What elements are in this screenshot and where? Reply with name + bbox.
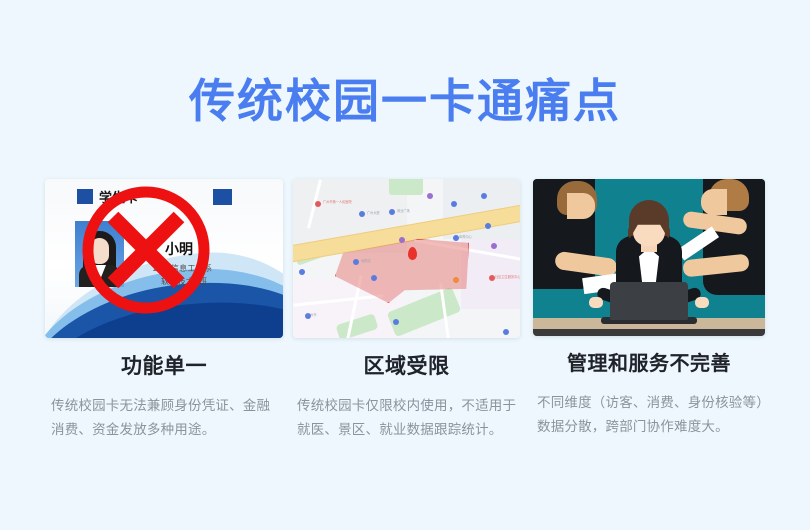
map-label: 广州大厦 (367, 210, 380, 215)
card-heading: 区域受限 (293, 356, 520, 377)
card-image-office (533, 179, 765, 336)
map-poi-marker (481, 193, 487, 199)
card-management-incomplete[interactable]: 管理和服务不完善 不同维度（访客、消费、身份核验等）数据分散，跨部门协作难度大。 (533, 179, 765, 438)
student-card-title: 学生卡 (99, 187, 138, 206)
map-graphic: 广州市第一人民医院 广州大厦 商业广场 地铁站 体育中心 社区卫生服务中心 广州… (293, 179, 520, 338)
map-poi-marker (371, 275, 377, 281)
map-poi-marker (451, 201, 457, 207)
student-class: 软件技术2班 (161, 276, 207, 287)
poster-root: 传统校园一卡通痛点 学生卡 (0, 0, 810, 530)
card-body-text: 不同维度（访客、消费、身份核验等）数据分散，跨部门协作难度大。 (533, 391, 765, 438)
student-photo (75, 221, 124, 287)
map-label: 广州市第一人民医院 (323, 199, 352, 204)
map-label: 社区卫生服务中心 (495, 274, 520, 279)
card-image-student-id: 学生卡 小明 23级信息工程系 软件技术2班 (45, 179, 283, 338)
colleague-right-face (701, 189, 727, 215)
location-pin-icon (408, 247, 417, 260)
card-body-text: 传统校园卡无法兼顾身份凭证、金融消费、资金发放多种用途。 (45, 394, 283, 441)
card-heading: 管理和服务不完善 (533, 354, 765, 374)
worker-hand-right (695, 297, 709, 308)
laptop-screen (610, 282, 688, 320)
page-title: 传统校园一卡通痛点 (0, 78, 810, 124)
map-poi-marker (491, 243, 497, 249)
photo-face (90, 238, 109, 264)
map-poi-marker (389, 209, 395, 215)
map-green-1 (389, 179, 423, 195)
map-poi-marker (353, 259, 359, 265)
map-label: 商业广场 (397, 208, 410, 213)
worker-hand-left (589, 297, 603, 308)
header-block-left-icon (77, 189, 93, 204)
card-area-limited[interactable]: 广州市第一人民医院 广州大厦 商业广场 地铁站 体育中心 社区卫生服务中心 广州… (293, 179, 520, 441)
map-poi-marker (427, 193, 433, 199)
cards-row: 学生卡 小明 23级信息工程系 软件技术2班 (0, 179, 810, 479)
map-label: 广州市 (307, 312, 317, 317)
card-body-text: 传统校园卡仅限校内使用，不适用于就医、景区、就业数据跟踪统计。 (293, 394, 520, 441)
desk-front-edge (533, 329, 765, 336)
map-label: 体育中心 (459, 234, 472, 239)
map-poi-marker (453, 277, 459, 283)
student-name: 小明 (165, 239, 193, 259)
map-label: 地铁站 (361, 258, 371, 263)
map-poi-marker (315, 201, 321, 207)
student-card-header: 学生卡 (53, 187, 275, 207)
map-poi-marker (359, 211, 365, 217)
card-function-limited[interactable]: 学生卡 小明 23级信息工程系 软件技术2班 (45, 179, 283, 441)
header-block-right-icon (213, 189, 232, 205)
map-poi-marker (503, 329, 509, 335)
card-heading: 功能单一 (45, 356, 283, 377)
office-illustration (533, 179, 765, 336)
map-poi-marker (485, 223, 491, 229)
colleague-left-face (567, 193, 595, 219)
student-id-card-graphic: 学生卡 小明 23级信息工程系 软件技术2班 (45, 179, 283, 338)
student-department: 23级信息工程系 (153, 263, 212, 274)
card-image-map: 广州市第一人民医院 广州大厦 商业广场 地铁站 体育中心 社区卫生服务中心 广州… (293, 179, 520, 338)
map-poi-marker (393, 319, 399, 325)
map-poi-marker (299, 269, 305, 275)
map-poi-marker (399, 237, 405, 243)
